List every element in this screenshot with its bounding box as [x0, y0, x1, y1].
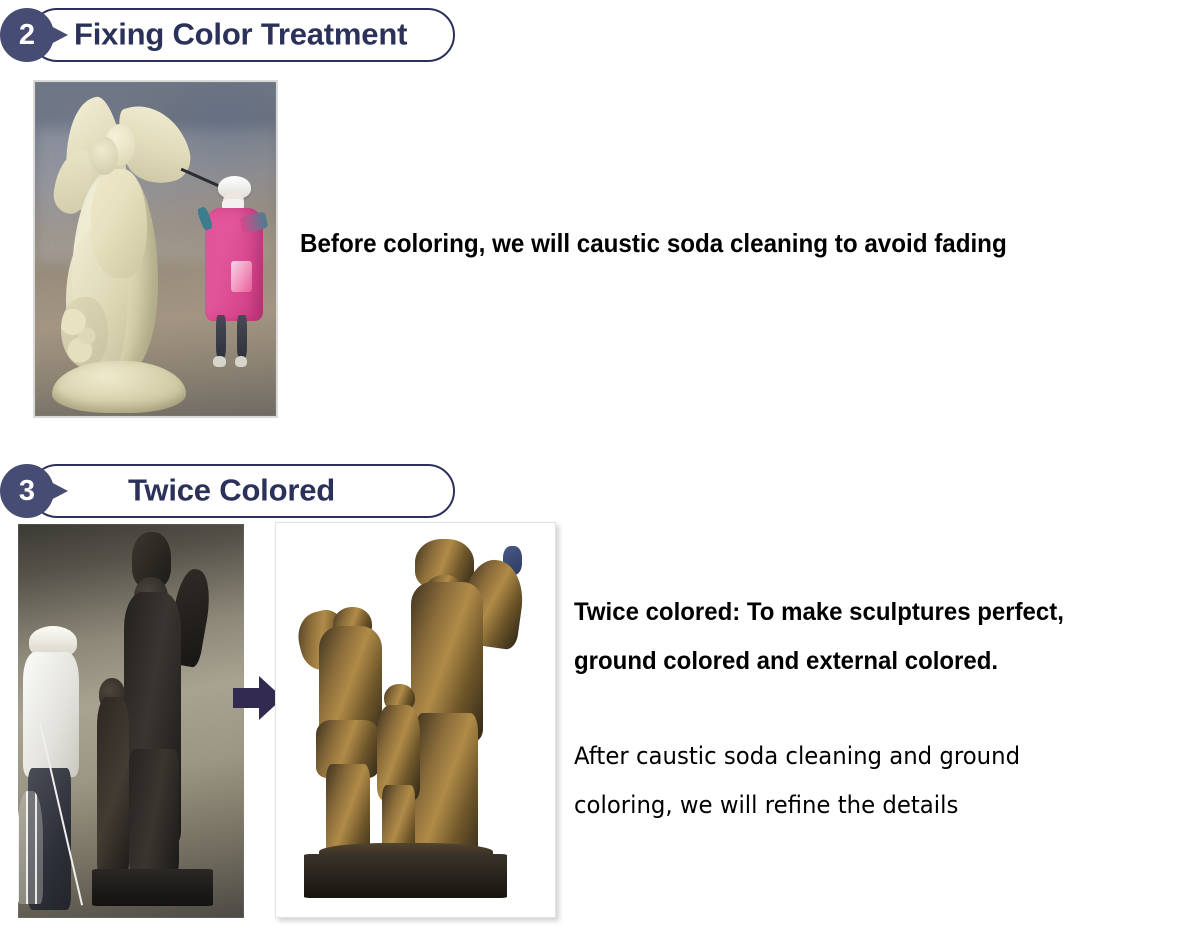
- workshop-fan: [18, 791, 43, 904]
- angel-base: [52, 361, 186, 412]
- step-3-line-3: After caustic soda cleaning and ground: [574, 732, 1144, 781]
- step-3-title: Twice Colored: [128, 472, 335, 508]
- angel-torso: [91, 169, 147, 278]
- worker-shirt: [23, 652, 78, 777]
- worker-shoe-left: [213, 356, 225, 368]
- step-2-title: Fixing Color Treatment: [74, 16, 407, 52]
- step-2-number: 2: [0, 8, 54, 62]
- step-2-caption: Before coloring, we will caustic soda cl…: [300, 228, 1007, 259]
- after-photo-frame: [275, 522, 556, 918]
- photo-angel-statue-caustic-soda-spraying: [33, 80, 278, 418]
- step-3-line-1: Twice colored: To make sculptures perfec…: [574, 588, 1150, 637]
- step-3-badge: 3: [0, 464, 76, 518]
- statue-plinth: [304, 854, 507, 898]
- worker-leg-right: [237, 315, 246, 358]
- step-3-number: 3: [0, 464, 54, 518]
- arrow-shaft: [233, 688, 261, 708]
- boy-body: [97, 697, 128, 877]
- photo-family-statue-before-coloring: [18, 524, 244, 918]
- angel-second-head: [91, 137, 118, 175]
- worker-spraying: [199, 176, 271, 370]
- angel-statue: [49, 92, 189, 413]
- worker-coat-print: [231, 261, 253, 292]
- man-legs: [129, 749, 179, 884]
- photo-family-statue-after-twice-coloring: [284, 531, 547, 909]
- step-3-paragraph-2: After caustic soda cleaning and ground c…: [574, 732, 1144, 830]
- worker-white-shirt: [20, 626, 97, 910]
- step-3-paragraph-1: Twice colored: To make sculptures perfec…: [574, 588, 1150, 686]
- step-3-header: Twice Colored 3: [0, 464, 460, 518]
- family-statue-dark: [95, 532, 226, 906]
- angel-flower-relief: [61, 297, 109, 368]
- worker-leg-left: [216, 315, 225, 358]
- worker-shoe-right: [235, 356, 247, 368]
- family-statue-bronze: [295, 539, 537, 902]
- step-3-line-4: coloring, we will refine the details: [574, 781, 1144, 830]
- statue-plinth: [92, 869, 213, 906]
- step-2-header: Fixing Color Treatment 2: [0, 8, 460, 62]
- step-3-line-2: ground colored and external colored.: [574, 637, 1150, 686]
- step-2-badge: 2: [0, 8, 76, 62]
